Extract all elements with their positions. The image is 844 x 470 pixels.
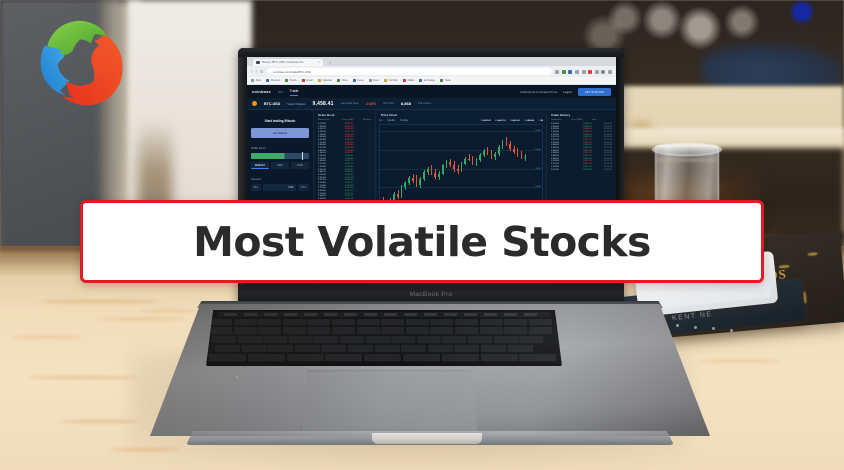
tab-favicon-icon: [256, 61, 260, 65]
order-my-size: —: [353, 139, 371, 141]
browser-omnibar[interactable]: ‹ › ↻ coinbase.com/trade/BTC-USD: [247, 66, 616, 77]
screenshot-canvas: GODS WITH THE KENT NE Bitcoin | BTC-USD …: [0, 0, 844, 470]
get-started-cta-label: Get Started: [273, 131, 287, 135]
order-book-asks[interactable]: 0.100209,462.87—1.349909,462.40—0.092119…: [316, 123, 373, 155]
trade-size: 1.40000: [551, 166, 571, 168]
price-chart-title: Price Chart: [379, 113, 543, 117]
overflow-menu-icon[interactable]: [608, 70, 612, 74]
keyboard-key[interactable]: [455, 319, 478, 326]
market-selector[interactable]: Select Market: [287, 102, 305, 106]
keyboard-key[interactable]: [258, 319, 281, 326]
candle-body: [457, 169, 459, 171]
desk-grain: [12, 336, 82, 338]
candle-body: [416, 181, 418, 185]
bookmark-label: Docs: [373, 79, 379, 82]
volume-value: 8,868: [401, 101, 411, 106]
desk-grain: [28, 376, 138, 379]
tab-title: Bitcoin | BTC-USD | Coinbase Pro: [262, 60, 304, 64]
candle-body: [412, 178, 414, 181]
keyboard-key[interactable]: [307, 327, 330, 335]
candle-body: [524, 157, 526, 158]
amount-heading: Amount: [251, 177, 309, 181]
tab-limit[interactable]: LIMIT: [271, 162, 289, 169]
ohlc-low: L 9,441.02: [510, 120, 520, 122]
order-size: 0.88100: [318, 171, 336, 173]
candle-body: [423, 172, 425, 179]
top-bar-right-group[interactable]: Institutional Coinbase Prime Log In GET …: [520, 88, 611, 96]
keyboard-key[interactable]: [417, 336, 441, 344]
amount-unit: BTC: [298, 184, 309, 191]
trade-price: 9,458.40: [571, 126, 591, 128]
order-size: 0.26700: [318, 169, 336, 171]
order-my-size: —: [353, 179, 371, 181]
candle-body: [453, 165, 455, 169]
trade-size: 0.09000: [551, 147, 571, 149]
bookmark-icon: [353, 79, 356, 82]
trade-time: 14:31:54: [592, 136, 612, 138]
keyboard-key[interactable]: [442, 336, 466, 344]
trade-time: 14:31:50: [592, 139, 612, 141]
candle-body: [401, 187, 403, 197]
trade-price: 9,457.73: [571, 142, 591, 144]
col-price: Price (USD): [336, 119, 354, 121]
slider-knob[interactable]: [302, 152, 304, 160]
extension-gray-icon[interactable]: [575, 70, 579, 74]
trade-history-row[interactable]: 0.110009,457.8814:31:10: [549, 168, 614, 171]
coinbase-logo[interactable]: coinbase: [252, 89, 271, 94]
order-my-size: —: [353, 142, 371, 144]
start-trading-title: Start trading Bitcoin: [251, 119, 309, 123]
keyboard-key[interactable]: [283, 319, 306, 326]
keyboard-key[interactable]: [442, 354, 479, 362]
order-price: 9,452.55: [336, 193, 354, 195]
keyboard[interactable]: [206, 310, 562, 366]
order-price: 9,458.41: [336, 155, 354, 157]
bookmark-item[interactable]: Charts: [285, 79, 297, 82]
trackpad-highlight: [236, 376, 238, 378]
trade-time: 14:32:01: [592, 131, 612, 133]
order-my-size: —: [353, 187, 371, 189]
laptop-front-notch: [372, 433, 482, 444]
keyboard-key[interactable]: [406, 327, 429, 335]
bookmark-label: Email: [306, 79, 312, 82]
candle-body: [431, 169, 433, 173]
extension-gray2-icon[interactable]: [582, 70, 586, 74]
candle-body: [487, 151, 489, 153]
candle-body: [483, 151, 485, 155]
keyboard-key[interactable]: [519, 354, 556, 362]
chart-type-selector[interactable]: Candle: [387, 119, 395, 122]
trade-price: 9,458.05: [571, 158, 591, 160]
swirl-logo-icon: [24, 8, 128, 112]
col-trade-price: Price (USD): [571, 119, 591, 121]
order-size: 0.73500: [318, 187, 336, 189]
keyboard-key[interactable]: [403, 354, 440, 362]
keyboard-key[interactable]: [375, 345, 400, 353]
bookmark-item[interactable]: Calendar: [318, 79, 333, 82]
order-my-size: —: [353, 177, 371, 179]
bookmark-item[interactable]: Portfolio: [384, 79, 398, 82]
bookmark-icon: [440, 79, 443, 82]
keyboard-key[interactable]: [348, 345, 373, 353]
order-price: 9,461.73: [336, 131, 354, 133]
keyboard-key[interactable]: [289, 336, 313, 344]
trade-time: 14:31:14: [592, 166, 612, 168]
order-size: 0.67300: [318, 179, 336, 181]
keyboard-key[interactable]: [529, 319, 552, 326]
order-book-bids[interactable]: 0.443009,458.41—0.190009,458.06—2.050009…: [316, 155, 373, 203]
keyboard-key[interactable]: [455, 327, 478, 335]
keyboard-key[interactable]: [287, 354, 324, 362]
order-price: 9,462.87: [336, 123, 354, 125]
trade-size: 0.27000: [551, 163, 571, 165]
bookmark-item[interactable]: Docs: [369, 79, 379, 82]
candle-body: [513, 149, 515, 152]
keyboard-key[interactable]: [468, 336, 492, 344]
keyboard-key[interactable]: [454, 345, 479, 353]
col-market-size: Market Size: [318, 119, 336, 121]
keyboard-key[interactable]: [212, 336, 236, 344]
order-price: 9,459.34: [336, 147, 354, 149]
keyboard-key[interactable]: [238, 336, 262, 344]
trade-price: 9,457.80: [571, 155, 591, 157]
trade-time: 14:32:10: [592, 123, 612, 125]
keyboard-key[interactable]: [480, 327, 503, 335]
bookmark-label: News: [357, 79, 363, 82]
keyboard-key[interactable]: [529, 327, 552, 335]
keyboard-key[interactable]: [307, 319, 330, 326]
keyboard-key[interactable]: [234, 319, 257, 326]
y-axis-tick: 9,360: [535, 186, 540, 188]
new-tab-icon[interactable]: +: [329, 60, 331, 65]
desk-grain: [700, 360, 780, 362]
order-size: 0.53000: [318, 144, 336, 146]
order-price: 9,457.22: [336, 163, 354, 165]
candle-body: [517, 152, 519, 154]
keyboard-keys[interactable]: [206, 310, 562, 366]
keyboard-key[interactable]: [406, 319, 429, 326]
order-price: 9,453.95: [336, 185, 354, 187]
keyboard-key[interactable]: [381, 319, 404, 326]
order-size: 0.12700: [318, 147, 336, 149]
order-size: 1.06100: [318, 152, 336, 154]
last-price-label: Last trade price: [341, 102, 359, 105]
bookmark-icon: [403, 79, 406, 82]
order-size: 1.78000: [318, 134, 336, 136]
keyboard-key[interactable]: [430, 319, 453, 326]
order-price: 9,453.02: [336, 190, 354, 192]
bookmark-item[interactable]: Drive: [337, 79, 347, 82]
trade-size: 0.24000: [551, 126, 571, 128]
bookmark-item[interactable]: Exchange: [419, 79, 435, 82]
trade-size: 0.07700: [551, 136, 571, 138]
buy-sell-slider[interactable]: [251, 153, 309, 159]
trade-time: 14:31:58: [592, 134, 612, 136]
amount-input-row[interactable]: Buy 0.00 BTC: [251, 184, 309, 191]
keyboard-key[interactable]: [215, 345, 240, 353]
candle-body: [521, 155, 523, 157]
trade-history-title: Trade History: [549, 113, 614, 117]
bookmark-label: Exchange: [424, 79, 435, 82]
trade-size: 0.66000: [551, 144, 571, 146]
trade-time: 14:31:40: [592, 147, 612, 149]
close-icon[interactable]: ×: [318, 60, 320, 64]
keyboard-key[interactable]: [481, 354, 518, 362]
keyboard-key[interactable]: [268, 345, 293, 353]
order-size: 0.41800: [318, 190, 336, 192]
trade-time: 14:31:32: [592, 152, 612, 154]
order-my-size: —: [353, 174, 371, 176]
extension-blue-icon[interactable]: [568, 70, 572, 74]
candle-body: [393, 194, 395, 200]
order-size: 0.25000: [318, 131, 336, 133]
tab-stop[interactable]: STOP: [291, 162, 309, 169]
order-my-size: —: [353, 150, 371, 152]
ohlc-readout: O 9,452.41 H 9,463.10 L 9,441.02 C 9,458…: [480, 120, 543, 122]
trade-size: 0.02400: [551, 142, 571, 144]
keyboard-key[interactable]: [357, 327, 380, 335]
order-price: 9,459.88: [336, 144, 354, 146]
candle-body: [464, 159, 466, 164]
bookmark-item[interactable]: Wallet: [403, 79, 414, 82]
candle-body: [397, 194, 399, 196]
order-size: 0.81200: [318, 150, 336, 152]
order-size: 0.06488: [318, 139, 336, 141]
bookmarks-bar[interactable]: Apps Markets Charts Email Calendar Drive…: [247, 77, 616, 85]
keyboard-key[interactable]: [508, 345, 533, 353]
y-axis-tick: 9,540: [535, 130, 540, 132]
keyboard-key[interactable]: [332, 327, 355, 335]
bookmark-icon: [337, 79, 340, 82]
keyboard-key[interactable]: [340, 336, 364, 344]
order-price: 9,453.40: [336, 187, 354, 189]
keyboard-key[interactable]: [209, 319, 232, 326]
trade-price: 9,457.88: [571, 169, 591, 171]
order-price: 9,454.80: [336, 179, 354, 181]
order-my-size: —: [353, 126, 371, 128]
order-size: 0.40000: [318, 136, 336, 138]
app-top-bar[interactable]: coinbase Pro Trade Institutional Coinbas…: [247, 85, 616, 98]
trade-price: 9,457.55: [571, 166, 591, 168]
order-book-title: Order Book: [316, 113, 373, 117]
keyboard-key[interactable]: [504, 319, 527, 326]
keyboard-key[interactable]: [209, 354, 246, 362]
order-my-size: —: [353, 155, 371, 157]
keyboard-key[interactable]: [357, 319, 380, 326]
extension-green-icon[interactable]: [562, 70, 566, 74]
keyboard-key[interactable]: [504, 327, 527, 335]
keyboard-key[interactable]: [381, 327, 404, 335]
price-change: -0.66%: [365, 102, 376, 106]
browser-tab[interactable]: Bitcoin | BTC-USD | Coinbase Pro ×: [253, 59, 323, 67]
candle-body: [476, 160, 478, 162]
order-size: 0.09600: [318, 195, 336, 197]
order-size: 0.37400: [318, 163, 336, 165]
bookmark-item[interactable]: Email: [302, 79, 313, 82]
col-my-size: My Size: [353, 119, 371, 121]
col-trade-size: Trade Size: [551, 119, 571, 121]
order-size: 0.14000: [318, 174, 336, 176]
tab-market[interactable]: MARKET: [251, 162, 269, 169]
bookmark-item[interactable]: News: [353, 79, 364, 82]
omnibar-actions[interactable]: [555, 70, 612, 74]
y-axis-tick: 9,420: [535, 168, 540, 170]
keyboard-key[interactable]: [263, 336, 287, 344]
keyboard-key[interactable]: [428, 345, 453, 353]
institutional-link[interactable]: Institutional Coinbase Prime: [520, 90, 557, 94]
candle-body: [479, 155, 481, 161]
order-size: 3.02000: [318, 177, 336, 179]
get-started-cta-button[interactable]: Get Started: [251, 128, 309, 138]
order-my-size: —: [353, 123, 371, 125]
order-my-size: —: [353, 128, 371, 130]
order-my-size: —: [353, 144, 371, 146]
keyboard-key[interactable]: [364, 354, 401, 362]
candle-body: [408, 178, 410, 184]
bookmark-item[interactable]: Apps: [251, 79, 261, 82]
tab-trade[interactable]: Trade: [290, 89, 299, 95]
order-price: 9,462.01: [336, 128, 354, 130]
trade-time: 14:31:21: [592, 160, 612, 162]
trade-size: 0.45000: [551, 150, 571, 152]
candle-body: [461, 164, 463, 171]
bookmark-label: Wallet: [407, 79, 414, 82]
order-price: 9,462.40: [336, 126, 354, 128]
trade-time: 14:31:10: [592, 169, 612, 171]
keyboard-key[interactable]: [430, 327, 453, 335]
price-change-label: 24h price: [383, 102, 394, 105]
keyboard-key[interactable]: [481, 345, 506, 353]
url-text: coinbase.com/trade/BTC-USD: [273, 70, 311, 74]
keyboard-key[interactable]: [321, 345, 346, 353]
order-price: 9,455.18: [336, 177, 354, 179]
extension-red-icon[interactable]: [588, 70, 592, 74]
keyboard-key[interactable]: [401, 345, 426, 353]
keyboard-key[interactable]: [248, 354, 285, 362]
order-size: 0.44300: [318, 155, 336, 157]
extension-gray3-icon[interactable]: [595, 70, 599, 74]
candle-body: [509, 144, 511, 149]
order-price: 9,457.73: [336, 160, 354, 162]
keyboard-key[interactable]: [391, 336, 415, 344]
order-size: 2.11000: [318, 142, 336, 144]
order-price: 9,460.42: [336, 139, 354, 141]
keyboard-key[interactable]: [209, 327, 232, 335]
order-price: 9,459.02: [336, 150, 354, 152]
trade-size: 0.01000: [551, 123, 571, 125]
candle-body: [468, 159, 470, 160]
trackpad[interactable]: [300, 370, 478, 432]
keyboard-key[interactable]: [234, 327, 257, 335]
trade-time: 14:31:18: [592, 163, 612, 165]
trade-history-rows[interactable]: 0.010009,458.4114:32:100.240009,458.4014…: [549, 123, 614, 171]
trade-size: 0.03300: [551, 158, 571, 160]
order-price: 9,460.95: [336, 136, 354, 138]
candle-body: [419, 179, 421, 185]
bookmark-icon: [419, 79, 422, 82]
bookmark-icon: [285, 79, 288, 82]
bookmark-star-icon[interactable]: [555, 70, 559, 74]
chart-overlay-selector[interactable]: Overlay: [400, 119, 408, 122]
trade-size: 0.05500: [551, 128, 571, 130]
keyboard-key[interactable]: [295, 345, 320, 353]
bookmark-label: Trade: [444, 79, 450, 82]
trade-time: 14:31:25: [592, 158, 612, 160]
get-started-button[interactable]: GET STARTED: [578, 88, 611, 96]
trade-size: 0.13200: [551, 134, 571, 136]
bookmark-item[interactable]: Trade: [440, 79, 451, 82]
trade-price: 9,457.90: [571, 139, 591, 141]
order-type-tabs[interactable]: MARKET LIMIT STOP: [251, 162, 309, 169]
desk-grain: [60, 420, 140, 423]
desk-grain: [40, 300, 160, 303]
candle-body: [472, 160, 474, 163]
bookmark-label: Calendar: [322, 79, 332, 82]
trade-price: 9,458.55: [571, 136, 591, 138]
order-price: 9,455.62: [336, 174, 354, 176]
trade-price: 9,458.10: [571, 144, 591, 146]
order-size: 2.20000: [318, 193, 336, 195]
trade-size: 0.11000: [551, 169, 571, 171]
ohlc-open: O 9,452.41: [480, 120, 491, 122]
amount-side-label: Buy: [251, 184, 261, 191]
browser-tab-strip[interactable]: Bitcoin | BTC-USD | Coinbase Pro × +: [247, 57, 616, 66]
candle-body: [498, 147, 500, 154]
coinbase-pro-label: Pro: [278, 90, 283, 94]
trading-pair[interactable]: BTC-USD: [264, 102, 280, 106]
profile-avatar-icon[interactable]: [601, 70, 605, 74]
back-icon[interactable]: ‹: [251, 69, 253, 74]
keyboard-key[interactable]: [494, 336, 518, 344]
order-my-size: —: [353, 152, 371, 154]
order-my-size: —: [353, 136, 371, 138]
bookmark-label: Charts: [289, 79, 296, 82]
keyboard-key[interactable]: [283, 327, 306, 335]
keyboard-key[interactable]: [242, 345, 267, 353]
keyboard-key[interactable]: [314, 336, 338, 344]
order-size: 0.19000: [318, 158, 336, 160]
address-bar[interactable]: coinbase.com/trade/BTC-USD: [267, 68, 552, 75]
forward-icon[interactable]: ›: [256, 69, 258, 74]
keyboard-key[interactable]: [519, 336, 543, 344]
order-my-size: —: [353, 171, 371, 173]
reload-icon[interactable]: ↻: [260, 69, 264, 75]
keyboard-key[interactable]: [366, 336, 390, 344]
candle-body: [427, 169, 429, 172]
ticker-bar[interactable]: BTC-USD Select Market 9,458.41 Last trad…: [247, 98, 616, 110]
trade-price: 9,457.02: [571, 163, 591, 165]
order-price: 9,456.03: [336, 171, 354, 173]
trade-price: 9,458.41: [571, 134, 591, 136]
keyboard-key[interactable]: [258, 327, 281, 335]
bookmark-icon: [251, 79, 254, 82]
trade-size: 0.31000: [551, 139, 571, 141]
trade-price: 9,457.60: [571, 150, 591, 152]
trade-time: 14:31:47: [592, 142, 612, 144]
tri-color-swirl-logo[interactable]: [24, 8, 128, 112]
chart-interval-selector[interactable]: 1m: [379, 119, 382, 122]
amount-input[interactable]: 0.00: [263, 184, 296, 191]
login-link[interactable]: Log In: [563, 90, 571, 94]
ohlc-volume: V 88: [538, 120, 543, 122]
chart-toolbar[interactable]: 1m Candle Overlay O 9,452.41 H 9,463.10 …: [379, 119, 543, 122]
keyboard-key[interactable]: [480, 319, 503, 326]
bookmark-item[interactable]: Markets: [266, 79, 279, 82]
trade-size: 0.18000: [551, 152, 571, 154]
keyboard-key[interactable]: [332, 319, 355, 326]
keyboard-key[interactable]: [325, 354, 362, 362]
trade-price: 9,458.33: [571, 147, 591, 149]
